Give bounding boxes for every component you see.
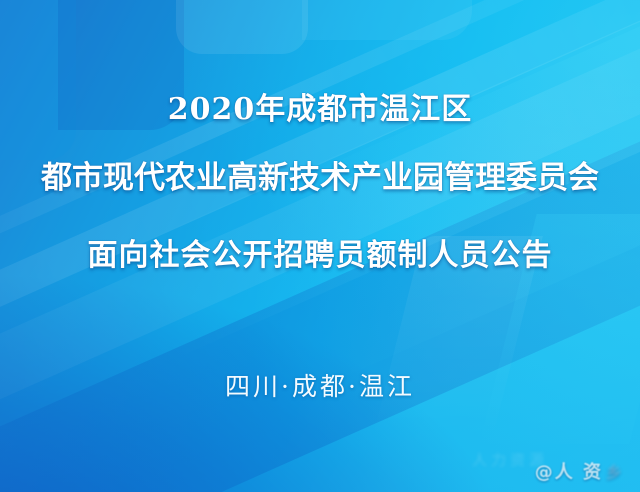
poster-content: 2020年成都市温江区 都市现代农业高新技术产业园管理委员会 面向社会公开招聘员… xyxy=(0,0,640,492)
poster-canvas: 2020年成都市温江区 都市现代农业高新技术产业园管理委员会 面向社会公开招聘员… xyxy=(0,0,640,492)
headline-line-1: 2020年成都市温江区 xyxy=(0,93,640,127)
watermark-trailing-glyph: 乡 xyxy=(606,459,624,483)
headline-line-2: 都市现代农业高新技术产业园管理委员会 xyxy=(0,160,640,196)
poster-subtitle-location: 四川·成都·温江 xyxy=(0,372,640,402)
watermark-handle: @人 资 xyxy=(535,458,603,484)
headline-line-3: 面向社会公开招聘员额制人员公告 xyxy=(0,238,640,273)
watermark: @人 资 乡 xyxy=(535,458,624,484)
